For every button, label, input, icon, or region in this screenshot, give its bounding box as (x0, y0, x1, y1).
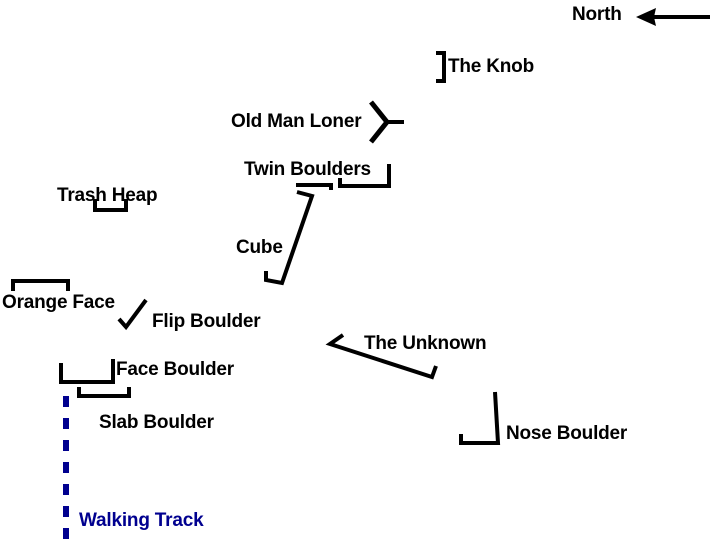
label-slab-boulder: Slab Boulder (99, 413, 214, 432)
the-knob-symbol (436, 53, 444, 81)
label-the-knob: The Knob (448, 57, 534, 76)
label-nose-boulder: Nose Boulder (506, 424, 627, 443)
face-boulder-symbol (61, 359, 113, 382)
boulder-map: North The Knob Old Man Loner Twin Boulde… (0, 0, 714, 539)
nose-boulder-symbol (461, 392, 498, 443)
label-flip-boulder: Flip Boulder (152, 312, 260, 331)
label-face-boulder: Face Boulder (116, 360, 234, 379)
label-twin-boulders: Twin Boulders (244, 160, 371, 179)
north-label: North (572, 5, 622, 24)
label-cube: Cube (236, 238, 283, 257)
label-walking-track: Walking Track (79, 511, 203, 530)
flip-boulder-symbol (119, 300, 146, 327)
map-linework (0, 0, 714, 539)
label-the-unknown: The Unknown (364, 334, 486, 353)
north-arrow-icon (636, 8, 710, 26)
label-old-man-loner: Old Man Loner (231, 112, 361, 131)
label-trash-heap: Trash Heap (57, 186, 157, 205)
label-orange-face: Orange Face (2, 293, 115, 312)
orange-face-symbol (13, 281, 68, 291)
slab-boulder-symbol (79, 387, 129, 396)
old-man-loner-symbol (371, 102, 404, 142)
